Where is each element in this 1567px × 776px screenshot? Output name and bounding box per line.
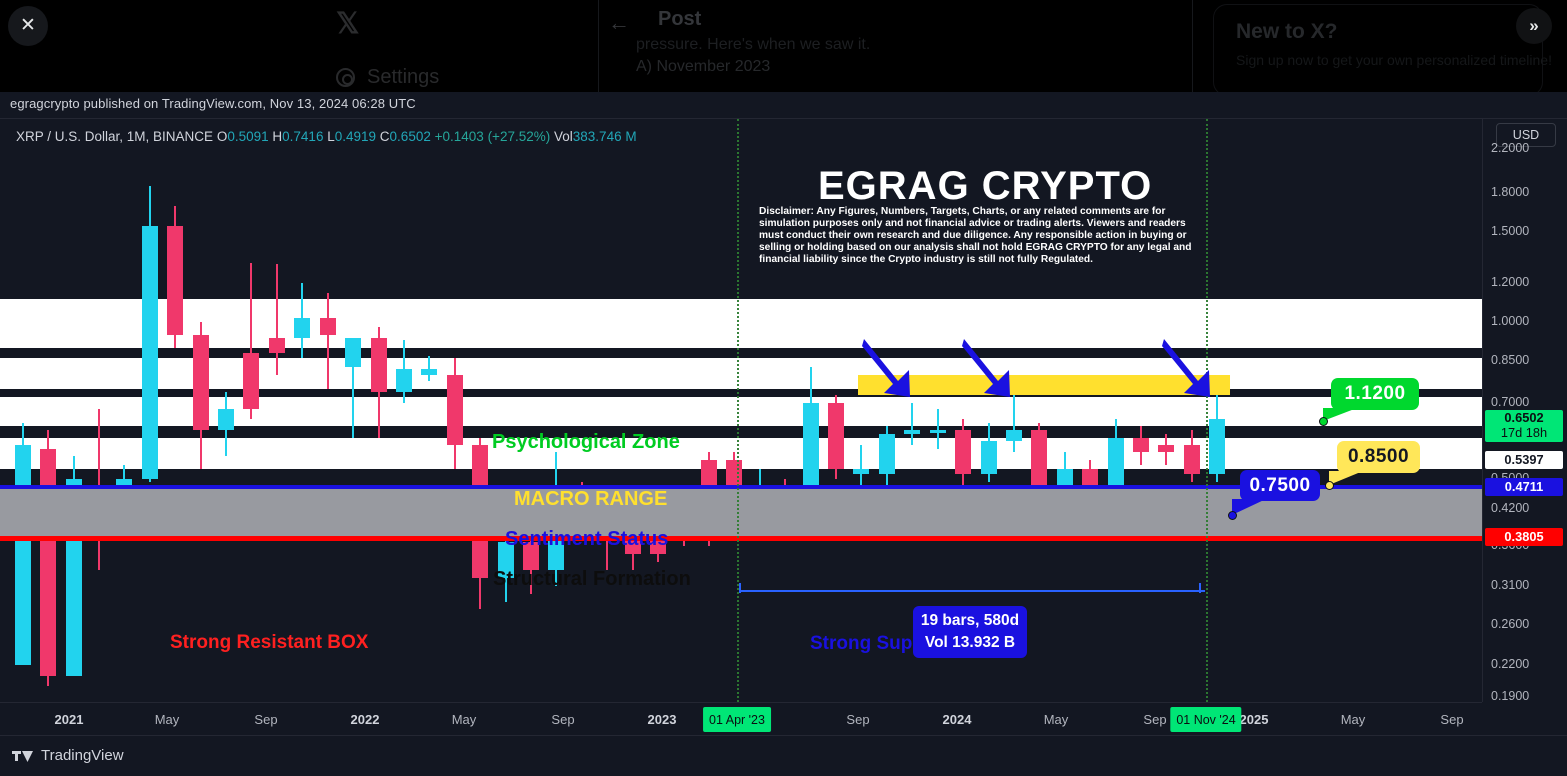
zone-label-macro-range[interactable]: MACRO RANGE (514, 488, 667, 511)
candle-wick (428, 356, 430, 381)
snapshot-credit: egragcrypto published on TradingView.com… (10, 96, 416, 111)
watermark-title: EGRAG CRYPTO (818, 164, 1152, 209)
callout-anchor-dot[interactable] (1325, 481, 1334, 490)
price-tick: 0.2200 (1483, 657, 1567, 671)
band-psychological-zone (0, 299, 1482, 348)
price-tick: 0.8500 (1483, 353, 1567, 367)
candle-body (15, 445, 31, 665)
candle-body (828, 403, 844, 469)
time-tick: May (1341, 712, 1366, 727)
price-label-value: 0.5397 (1504, 453, 1543, 468)
legend-close-label: C (380, 129, 390, 144)
candle-wick (937, 409, 939, 448)
time-tick: May (155, 712, 180, 727)
price-tick: 0.7000 (1483, 395, 1567, 409)
candle-body (955, 430, 971, 474)
support-box-bottom-line[interactable] (0, 536, 1482, 541)
candle-wick (1013, 395, 1015, 453)
expand-icon[interactable]: » (1516, 8, 1552, 44)
time-tick: May (1044, 712, 1069, 727)
candle-body (396, 369, 412, 391)
legend-symbol[interactable]: XRP / U.S. Dollar, 1M, BINANCE (16, 129, 213, 144)
legend-high-value: 0.7416 (282, 129, 323, 144)
candle-body (1158, 445, 1174, 452)
price-label-value: 0.3805 (1504, 530, 1543, 545)
time-tick: 2023 (648, 712, 677, 727)
vertical-marker-line-2[interactable] (1206, 119, 1208, 702)
candle-body (904, 430, 920, 434)
zone-label-sentiment-status[interactable]: Sentiment Status (505, 528, 668, 551)
candle-body (243, 353, 259, 409)
candle-body (142, 226, 158, 480)
price-label-value: 0.6502 (1504, 411, 1543, 426)
callout-tail (1329, 471, 1369, 491)
candle-body (345, 338, 361, 367)
legend-open-label: O (217, 129, 228, 144)
candle-body (1108, 438, 1124, 488)
legend-close-value: 0.6502 (390, 129, 431, 144)
candle-body (40, 449, 56, 676)
candle-body (1209, 419, 1225, 474)
price-scale[interactable]: USD 2.20001.80001.50001.20001.00000.8500… (1482, 119, 1567, 702)
price-tick: 0.1900 (1483, 689, 1567, 703)
measurement-cap-2 (1199, 583, 1201, 593)
candle-wick (276, 264, 278, 375)
tradingview-logo[interactable]: TradingView (12, 747, 124, 764)
candle-body (1184, 445, 1200, 474)
price-tick: 1.5000 (1483, 224, 1567, 238)
time-tick: 2021 (55, 712, 84, 727)
time-tick: 2022 (351, 712, 380, 727)
band-macro-range (0, 358, 1482, 389)
candle-body (930, 430, 946, 433)
candle-body (853, 469, 869, 474)
zone-label-structural-formation[interactable]: Structural Formation (493, 568, 691, 591)
price-tick: 1.2000 (1483, 275, 1567, 289)
price-label-support-bottom[interactable]: 0.3805 (1485, 528, 1563, 546)
measurement-info-box[interactable]: 19 bars, 580dVol 13.932 B (913, 606, 1027, 658)
candle-body (320, 318, 336, 335)
candle-body (1133, 438, 1149, 453)
page-title: Post (658, 8, 701, 31)
down-arrow-icon-2 (962, 337, 1024, 403)
price-tick: 0.4200 (1483, 501, 1567, 515)
column-divider-right (1192, 0, 1193, 92)
candle-wick (327, 293, 329, 389)
sidebar-item-label: Settings (367, 66, 439, 89)
legend-open-value: 0.5091 (227, 129, 268, 144)
time-tick: Sep (1440, 712, 1463, 727)
measurement-arrow-line[interactable] (739, 590, 1205, 592)
screenshot-root: ✕ 𝕏 Settings ← Post pressure. Here's whe… (0, 0, 1567, 776)
time-scale[interactable]: 2021MaySep2022MaySep2023Sep2024MaySep202… (0, 702, 1482, 736)
chart-legend: XRP / U.S. Dollar, 1M, BINANCE O0.5091 H… (16, 129, 637, 144)
zone-label-strong-resistant-box[interactable]: Strong Resistant BOX (170, 632, 368, 654)
callout-tail (1232, 499, 1272, 521)
price-tick: 0.3100 (1483, 578, 1567, 592)
price-tick: 0.2600 (1483, 617, 1567, 631)
legend-low-value: 0.4919 (335, 129, 376, 144)
legend-volume-value: 383.746 M (573, 129, 637, 144)
watermark-disclaimer: Disclaimer: Any Figures, Numbers, Target… (759, 206, 1194, 266)
vertical-marker-line-1[interactable] (737, 119, 739, 702)
candle-body (447, 375, 463, 445)
back-arrow-icon[interactable]: ← (608, 10, 630, 36)
candle-body (218, 409, 234, 430)
tradingview-logo-text: TradingView (41, 747, 124, 764)
column-divider (598, 0, 599, 92)
background-x-app: ✕ 𝕏 Settings ← Post pressure. Here's whe… (0, 0, 1567, 92)
post-text-line-1: pressure. Here's when we saw it. (636, 36, 870, 54)
time-tick: 2025 (1240, 712, 1269, 727)
candle-body (294, 318, 310, 338)
candle-body (803, 403, 819, 492)
candle-body (269, 338, 285, 354)
legend-high-label: H (272, 129, 282, 144)
time-tick: Sep (1143, 712, 1166, 727)
price-label-value: 0.4711 (1505, 480, 1543, 495)
callout-tail (1323, 408, 1363, 427)
sidebar-item-settings[interactable]: Settings (336, 66, 439, 89)
callout-anchor-dot[interactable] (1319, 417, 1328, 426)
post-text-line-2: A) November 2023 (636, 58, 770, 76)
measurement-volume-text: Vol 13.932 B (925, 632, 1015, 654)
measurement-cap-1 (739, 583, 741, 593)
price-tick: 1.8000 (1483, 185, 1567, 199)
legend-low-label: L (327, 129, 335, 144)
chart-frame: Psychological ZoneMACRO RANGESentiment S… (0, 118, 1567, 736)
candle-wick (911, 403, 913, 445)
candle-body (371, 338, 387, 392)
candle-body (167, 226, 183, 336)
close-icon[interactable]: ✕ (8, 6, 48, 46)
tradingview-snapshot: egragcrypto published on TradingView.com… (0, 92, 1567, 776)
time-tick: Sep (846, 712, 869, 727)
candle-body (1031, 430, 1047, 484)
x-logo-icon[interactable]: 𝕏 (336, 6, 359, 41)
price-label-last-price[interactable]: 0.650217d 18h (1485, 410, 1563, 442)
down-arrow-icon-3 (1162, 337, 1224, 403)
chart-plot-area[interactable]: Psychological ZoneMACRO RANGESentiment S… (0, 119, 1482, 702)
gear-icon (336, 68, 355, 87)
candle-body (981, 441, 997, 474)
price-label-countdown: 17d 18h (1501, 426, 1547, 441)
legend-change-pct: (+27.52%) (488, 129, 551, 144)
price-tick: 1.0000 (1483, 314, 1567, 328)
candle-body (1006, 430, 1022, 441)
measurement-bars-text: 19 bars, 580d (921, 610, 1019, 632)
down-arrow-icon-1 (862, 337, 924, 403)
callout-anchor-dot[interactable] (1228, 511, 1237, 520)
candle-body (726, 460, 742, 485)
time-tick: May (452, 712, 477, 727)
time-marker-badge-2[interactable]: 01 Nov '24 (1170, 707, 1241, 732)
candle-body (421, 369, 437, 375)
tradingview-mark-icon (12, 749, 34, 763)
legend-volume-label: Vol (554, 129, 573, 144)
new-to-x-title: New to X? (1236, 20, 1338, 44)
snapshot-footer: TradingView (0, 737, 1567, 776)
price-label-support-top[interactable]: 0.4711 (1485, 478, 1563, 496)
price-callout-target-0-7500[interactable]: 0.7500 (1240, 470, 1320, 501)
time-tick: 2024 (943, 712, 972, 727)
price-callout-target-0-8500[interactable]: 0.8500 (1337, 441, 1420, 473)
time-tick: Sep (551, 712, 574, 727)
price-label-white-level[interactable]: 0.5397 (1485, 451, 1563, 469)
time-tick: Sep (254, 712, 277, 727)
candle-body (193, 335, 209, 430)
legend-change: +0.1403 (435, 129, 484, 144)
price-callout-target-1-1200[interactable]: 1.1200 (1331, 378, 1419, 410)
price-tick: 2.2000 (1483, 141, 1567, 155)
zone-label-psychological-zone[interactable]: Psychological Zone (492, 431, 680, 454)
candle-body (879, 434, 895, 474)
new-to-x-subtitle: Sign up now to get your own personalized… (1236, 52, 1552, 68)
candle-body (1057, 469, 1073, 484)
new-to-x-card[interactable] (1213, 4, 1543, 92)
time-marker-badge-1[interactable]: 01 Apr '23 (703, 707, 771, 732)
